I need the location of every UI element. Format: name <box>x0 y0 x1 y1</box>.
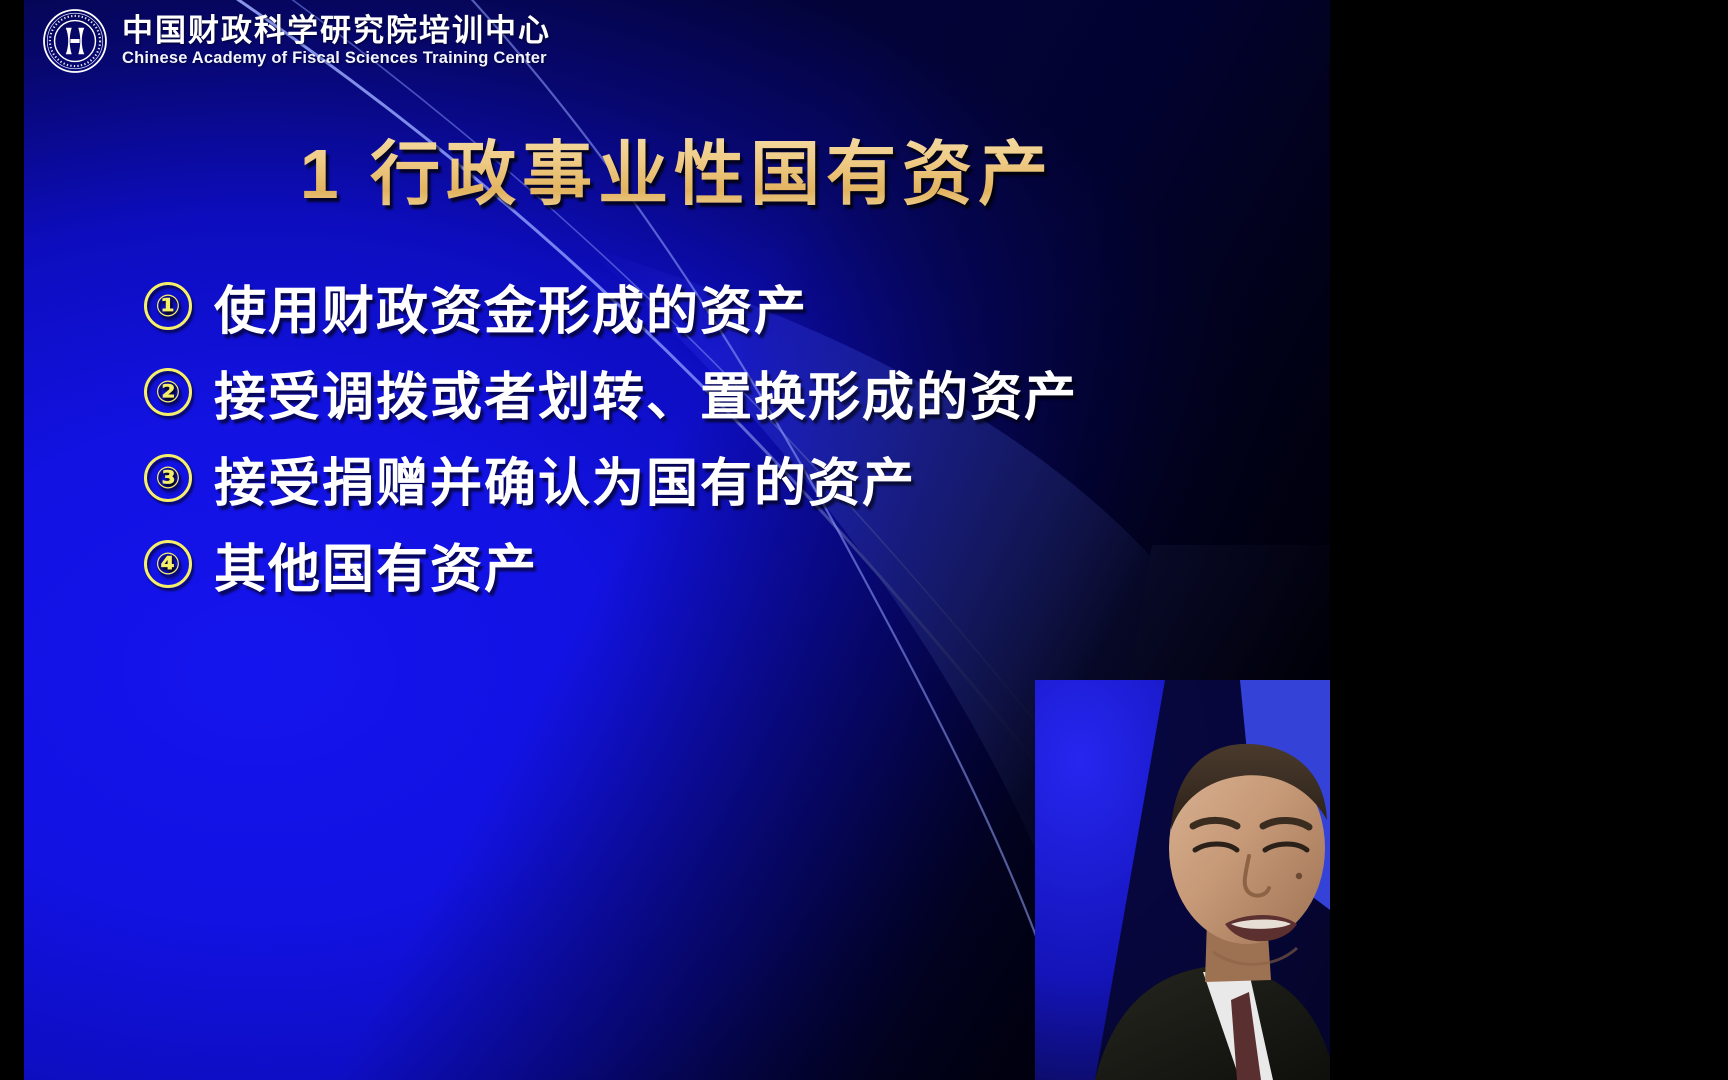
screen-capture: 中国财政科学研究院培训中心 Chinese Academy of Fiscal … <box>0 0 1728 1080</box>
letterbox-right <box>1330 0 1728 1080</box>
presenter-video-overlay[interactable] <box>1035 680 1330 1080</box>
org-name-english: Chinese Academy of Fiscal Sciences Train… <box>122 50 551 67</box>
organization-names: 中国财政科学研究院培训中心 Chinese Academy of Fiscal … <box>122 15 551 67</box>
bullet-list: ① 使用财政资金形成的资产 ② 接受调拨或者划转、置换形成的资产 ③ 接受捐赠并… <box>144 275 1324 619</box>
bullet-text-1: 使用财政资金形成的资产 <box>214 269 808 344</box>
bullet-text-2: 接受调拨或者划转、置换形成的资产 <box>214 355 1078 430</box>
bullet-marker-4: ④ <box>144 540 192 588</box>
academy-seal-icon <box>42 8 108 74</box>
bullet-item: ④ 其他国有资产 <box>144 533 1324 595</box>
slide-title: 1 行政事业性国有资产 <box>24 118 1330 219</box>
bullet-marker-2: ② <box>144 368 192 416</box>
letterbox-left <box>0 0 24 1080</box>
bullet-item: ① 使用财政资金形成的资产 <box>144 275 1324 337</box>
bullet-item: ③ 接受捐赠并确认为国有的资产 <box>144 447 1324 509</box>
org-name-chinese: 中国财政科学研究院培训中心 <box>122 15 551 47</box>
bullet-item: ② 接受调拨或者划转、置换形成的资产 <box>144 361 1324 423</box>
presenter-figure <box>1035 680 1330 1080</box>
bullet-marker-3: ③ <box>144 454 192 502</box>
bullet-text-4: 其他国有资产 <box>214 527 538 602</box>
bullet-text-3: 接受捐赠并确认为国有的资产 <box>214 441 916 516</box>
slide-header: 中国财政科学研究院培训中心 Chinese Academy of Fiscal … <box>42 8 551 74</box>
bullet-marker-1: ① <box>144 282 192 330</box>
